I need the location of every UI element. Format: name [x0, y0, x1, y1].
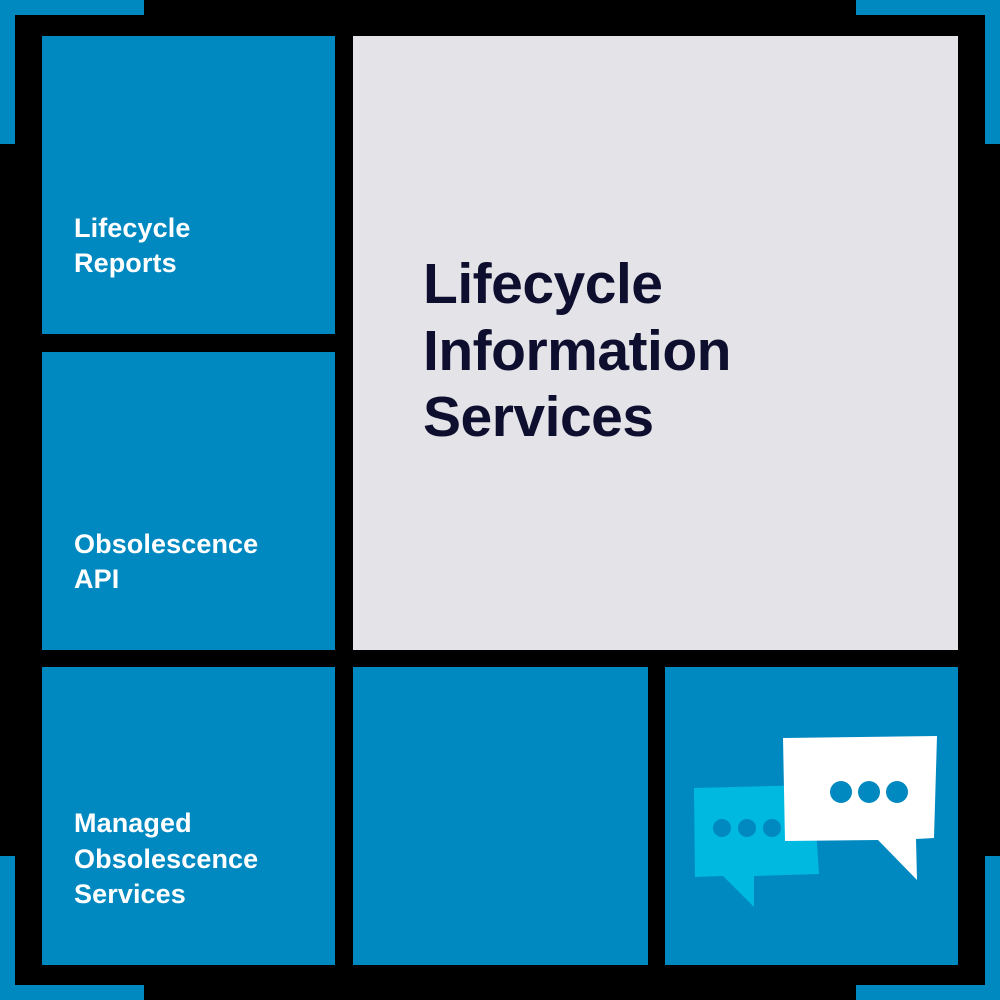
bracket-arm-vertical — [985, 0, 1000, 144]
tile-blank-accent[interactable] — [353, 667, 648, 965]
bracket-arm-horizontal — [0, 0, 144, 15]
bracket-arm-vertical — [0, 0, 15, 144]
bracket-arm-horizontal — [856, 985, 1000, 1000]
tile-obsolescence-api-label: Obsolescence API — [74, 527, 317, 598]
tile-obsolescence-api[interactable]: Obsolescence API — [42, 352, 335, 650]
bracket-arm-vertical — [0, 856, 15, 1000]
page-title: Lifecycle Information Services — [423, 251, 918, 451]
tile-managed-obsolescence-services-label: Managed Obsolescence Services — [74, 806, 317, 913]
main-panel: Lifecycle Information Services — [353, 36, 958, 650]
infographic-canvas: Lifecycle Reports Obsolescence API Manag… — [0, 0, 1000, 1000]
tile-lifecycle-reports[interactable]: Lifecycle Reports — [42, 36, 335, 334]
tile-managed-obsolescence-services[interactable]: Managed Obsolescence Services — [42, 667, 335, 965]
tile-chat-icon[interactable] — [665, 667, 958, 965]
speech-bubbles-icon — [665, 667, 958, 965]
bracket-arm-vertical — [985, 856, 1000, 1000]
tile-lifecycle-reports-label: Lifecycle Reports — [74, 211, 317, 282]
bracket-arm-horizontal — [0, 985, 144, 1000]
bracket-arm-horizontal — [856, 0, 1000, 15]
